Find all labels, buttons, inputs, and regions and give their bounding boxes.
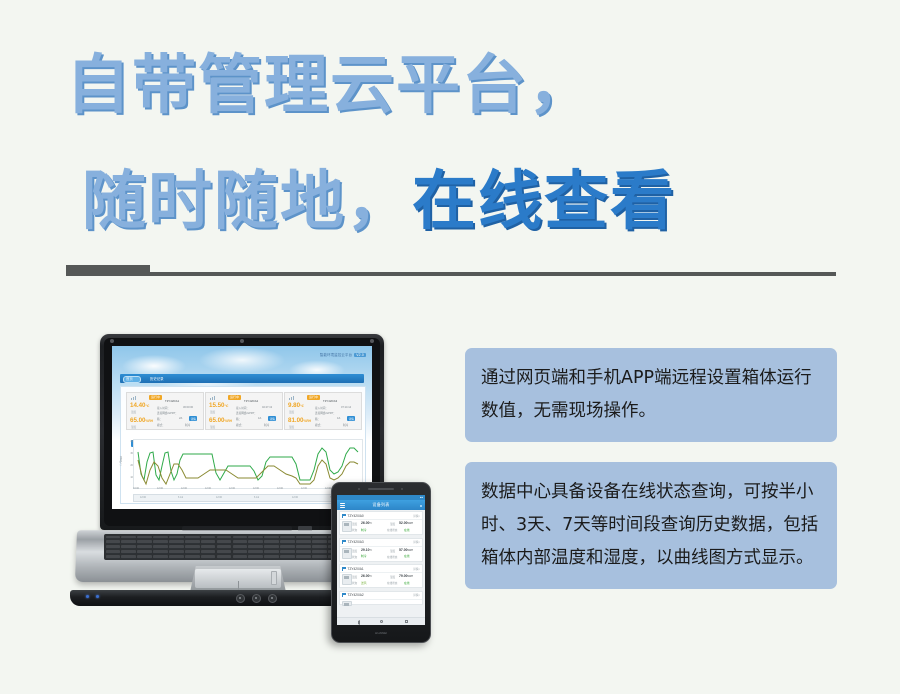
slider-tick: 12:00 bbox=[140, 496, 146, 499]
device-row-value-3: 制冷 bbox=[185, 423, 190, 427]
chart-plot-area bbox=[134, 440, 362, 488]
chart-y-axis-label: 温度(℃) bbox=[118, 456, 122, 465]
overflow-menu-icon[interactable] bbox=[420, 505, 422, 507]
list-item-detail-link[interactable]: 详情> bbox=[413, 567, 420, 571]
device-row-label-3: 模式： bbox=[236, 423, 244, 427]
screen-navbar: 首页 历史记录 bbox=[120, 374, 364, 383]
device-humidity-label: 湿度 bbox=[210, 425, 215, 429]
feature-card-data-center: 数据中心具备设备在线状态查询，可按半小时、3天、7天等时间段查询历史数据，包括箱… bbox=[465, 462, 837, 589]
device-card[interactable]: 运行中 9.80℃ 温度 81.00%RH 湿度 TZY420/A3 接入时间：… bbox=[284, 392, 362, 430]
feature-card-1-text: 通过网页端和手机APP端远程设置箱体运行数值，无需现场操作。 bbox=[481, 368, 812, 421]
trackpad-button-divider bbox=[238, 581, 239, 590]
device-status-badge: 运行中 bbox=[228, 395, 241, 400]
device-detail-button[interactable]: 详情 bbox=[347, 416, 355, 421]
x-tick: 10:00 bbox=[133, 487, 139, 490]
device-humidity-value: 65.00%RH bbox=[130, 417, 153, 424]
section-divider bbox=[66, 265, 836, 277]
device-status-badge: 运行中 bbox=[307, 395, 320, 400]
device-row-value-2: 1/1 bbox=[337, 417, 341, 420]
device-humidity-label: 湿度 bbox=[131, 425, 136, 429]
device-temperature-label: 温度 bbox=[289, 410, 294, 414]
device-humidity-value: 65.00%RH bbox=[209, 417, 232, 424]
list-item[interactable]: TZY420/A0 详情> 温度 26.00℃ 湿度 52.00%RH 状态 制… bbox=[339, 511, 423, 535]
device-id-label: TZY420/A3 bbox=[323, 399, 337, 403]
temp-value: 26.00℃ bbox=[361, 574, 372, 578]
headline-line1-text: 自带管理云平台， bbox=[66, 40, 594, 132]
slider-tick: 6 Jul bbox=[254, 496, 259, 499]
device-temperature-label: 温度 bbox=[131, 410, 136, 414]
headline-line2-light-text: 随时随地， bbox=[82, 156, 412, 248]
laptop-trackpad[interactable] bbox=[190, 566, 286, 592]
device-row-value-3: 制冷 bbox=[343, 423, 348, 427]
phone-device-list[interactable]: TZY420/A0 详情> 温度 26.00℃ 湿度 52.00%RH 状态 制… bbox=[337, 511, 425, 618]
signal-bars-icon bbox=[289, 395, 296, 400]
humidity-value: 79.00%RH bbox=[399, 574, 413, 578]
webcam-icon bbox=[240, 339, 244, 343]
recents-icon[interactable] bbox=[405, 620, 408, 623]
list-item[interactable]: TZY420/A1 详情> 温度 26.00℃ 湿度 79.00%RH 状态 送… bbox=[339, 564, 423, 588]
device-row-label-0: 接入时间： bbox=[157, 406, 170, 410]
y-tick: 40 bbox=[130, 440, 133, 443]
device-flag-icon bbox=[342, 593, 346, 597]
chart-range-slider[interactable]: 12:00 6 Jul 12:00 6 Jul 12:00 7 Jul bbox=[133, 494, 363, 502]
list-item-detail-link[interactable]: 详情> bbox=[413, 540, 420, 544]
device-thumbnail-icon bbox=[342, 521, 352, 532]
device-row-label-3: 模式： bbox=[315, 423, 323, 427]
navbar-home-label: 首页 bbox=[126, 376, 133, 381]
power-led-icon bbox=[86, 595, 89, 598]
phone-app-title: 设备列表 bbox=[337, 502, 425, 508]
temp-value: 26.00℃ bbox=[361, 521, 372, 525]
x-tick: 12:00 bbox=[157, 487, 163, 490]
temp-value: 29.10℃ bbox=[361, 548, 372, 552]
device-humidity-value: 81.00%RH bbox=[288, 417, 311, 424]
device-flag-icon bbox=[342, 540, 346, 544]
device-thumbnail-icon bbox=[342, 548, 352, 559]
device-humidity-label: 湿度 bbox=[289, 425, 294, 429]
platform-logo-text: 智能环境监控云平台 bbox=[320, 353, 352, 357]
x-tick: 12:00 bbox=[205, 487, 211, 490]
device-row-label-2: 箱： bbox=[157, 417, 162, 421]
history-chart: 40 30 20 10 温度(℃) bbox=[133, 439, 363, 489]
device-id-label: TZY420/A2 bbox=[244, 399, 258, 403]
headline-block: 自带管理云平台， 自带管理云平台， 随时随地，在线查看 随时随地，在线查看 bbox=[0, 40, 900, 255]
device-temperature-value: 14.40℃ bbox=[130, 402, 149, 409]
device-row-label-1: 连接网络/GPRT： bbox=[157, 411, 178, 415]
y-tick: 20 bbox=[130, 464, 133, 467]
list-item-detail-link[interactable]: 详情> bbox=[413, 514, 420, 518]
signal-bars-icon bbox=[210, 395, 217, 400]
state-value: 送风 bbox=[361, 581, 367, 585]
device-detail-button[interactable]: 详情 bbox=[268, 416, 276, 421]
feature-card-remote-setting: 通过网页端和手机APP端远程设置箱体运行数值，无需现场操作。 bbox=[465, 348, 837, 442]
device-row-value-0: 07:14:14 bbox=[341, 406, 351, 409]
device-temperature-value: 9.80℃ bbox=[288, 402, 304, 409]
list-item-device-id: TZY420/A0 bbox=[348, 514, 364, 518]
fingerprint-reader-icon bbox=[271, 571, 277, 585]
device-row-value-3: 制冷 bbox=[264, 423, 269, 427]
x-tick: 12:00 bbox=[229, 487, 235, 490]
online-value: 在线 bbox=[404, 554, 410, 558]
device-row-label-3: 模式： bbox=[157, 423, 165, 427]
state-value: 制冷 bbox=[361, 554, 367, 558]
x-tick: 12:00 bbox=[277, 487, 283, 490]
device-row-label-0: 接入时间： bbox=[236, 406, 249, 410]
device-card[interactable]: 运行中 15.50℃ 温度 65.00%RH 湿度 TZY420/A2 接入时间… bbox=[205, 392, 283, 430]
home-icon[interactable] bbox=[380, 620, 383, 623]
state-value: 制冷 bbox=[361, 528, 367, 532]
state-label: 状态 bbox=[352, 581, 357, 585]
audio-port-icon bbox=[236, 594, 245, 603]
device-temperature-value: 15.50℃ bbox=[209, 402, 228, 409]
device-row-label-1: 连接网络/GPRT： bbox=[236, 411, 257, 415]
online-value: 在线 bbox=[404, 528, 410, 532]
online-label: 在线状态 bbox=[387, 581, 397, 585]
x-tick: 12:00 bbox=[301, 487, 307, 490]
lid-screw-right-icon bbox=[370, 339, 374, 343]
headline-line-1: 自带管理云平台， 自带管理云平台， bbox=[0, 40, 900, 132]
list-item-device-id: TZY420/A1 bbox=[348, 567, 364, 571]
humidity-value: 57.00%RH bbox=[399, 548, 413, 552]
humidity-label: 湿度 bbox=[390, 549, 395, 553]
platform-logo: 智能环境监控云平台V2.0 bbox=[320, 352, 366, 357]
divider-thick-segment bbox=[66, 265, 150, 276]
temp-label: 温度 bbox=[352, 549, 357, 553]
activity-led-icon bbox=[96, 595, 99, 598]
device-row-value-0: 30:00:00 bbox=[183, 406, 193, 409]
phone-navigation-bar bbox=[337, 617, 425, 625]
feature-card-2-text: 数据中心具备设备在线状态查询，可按半小时、3天、7天等时间段查询历史数据，包括箱… bbox=[481, 482, 818, 568]
headline-line2-dark-text: 在线查看 bbox=[412, 156, 676, 248]
online-label: 在线状态 bbox=[387, 528, 397, 532]
state-label: 状态 bbox=[352, 528, 357, 532]
x-tick: 12:00 bbox=[181, 487, 187, 490]
list-item-device-id: TZY420/A3 bbox=[348, 540, 364, 544]
front-camera-icon bbox=[358, 488, 360, 490]
mic-port-icon bbox=[252, 594, 261, 603]
list-item[interactable]: TZY420/A3 详情> 温度 29.10℃ 湿度 57.00%RH 状态 制… bbox=[339, 538, 423, 562]
device-row-value-2: 1/1 bbox=[258, 417, 262, 420]
x-tick: 12:00 bbox=[253, 487, 259, 490]
device-row-label-2: 箱： bbox=[315, 417, 320, 421]
phone-brand-label: HUAWEI bbox=[337, 628, 425, 639]
y-tick: 10 bbox=[130, 476, 133, 479]
device-temperature-label: 温度 bbox=[210, 410, 215, 414]
proximity-sensor-icon bbox=[401, 488, 403, 490]
device-thumbnail-icon bbox=[342, 574, 352, 585]
device-row-label-1: 连接网络/GPRT： bbox=[315, 411, 336, 415]
device-detail-button[interactable]: 详情 bbox=[189, 416, 197, 421]
slider-tick: 6 Jul bbox=[178, 496, 183, 499]
list-item-device-id: TZY420/A2 bbox=[348, 593, 364, 597]
device-card[interactable]: 运行中 14.40℃ 温度 65.00%RH 湿度 TZY420/A1 接入时间… bbox=[126, 392, 204, 430]
humidity-label: 湿度 bbox=[390, 522, 395, 526]
divider-thin-segment bbox=[150, 272, 836, 276]
device-row-value-2: 2/1 bbox=[179, 417, 183, 420]
y-tick: 30 bbox=[130, 452, 133, 455]
headphone-port-icon bbox=[268, 594, 277, 603]
list-item-detail-link[interactable]: 详情> bbox=[413, 593, 420, 597]
phone-app-bar: 设备列表 bbox=[337, 500, 425, 510]
dashboard-panel: 运行中 14.40℃ 温度 65.00%RH 湿度 TZY420/A1 接入时间… bbox=[120, 386, 366, 504]
slider-tick: 12:00 bbox=[292, 496, 298, 499]
slider-tick: 12:00 bbox=[216, 496, 222, 499]
poster-stage: 自带管理云平台， 自带管理云平台， 随时随地，在线查看 随时随地，在线查看 通过… bbox=[0, 0, 900, 694]
lid-screw-left-icon bbox=[110, 339, 114, 343]
status-bar-indicators: ●● bbox=[420, 496, 423, 499]
laptop-keyboard[interactable] bbox=[104, 534, 344, 560]
humidity-label: 湿度 bbox=[390, 575, 395, 579]
phone-earpiece bbox=[368, 488, 394, 490]
phone-screen: ●● 设备列表 TZY420/A0 详情> 温度 26.00℃ bbox=[337, 495, 425, 625]
navbar-history-label[interactable]: 历史记录 bbox=[150, 376, 164, 381]
device-row-label-2: 箱： bbox=[236, 417, 241, 421]
device-row-value-0: 02:27:13 bbox=[262, 406, 272, 409]
temp-label: 温度 bbox=[352, 522, 357, 526]
online-label: 在线状态 bbox=[387, 555, 397, 559]
humidity-value: 52.00%RH bbox=[399, 521, 413, 525]
temp-label: 温度 bbox=[352, 575, 357, 579]
device-thumbnail-icon bbox=[342, 601, 352, 606]
device-status-badge: 运行中 bbox=[149, 395, 162, 400]
device-flag-icon bbox=[342, 514, 346, 518]
platform-version-tag: V2.0 bbox=[354, 353, 366, 357]
online-value: 在线 bbox=[404, 581, 410, 585]
smartphone-illustration: ●● 设备列表 TZY420/A0 详情> 温度 26.00℃ bbox=[331, 482, 431, 643]
device-flag-icon bbox=[342, 567, 346, 571]
device-id-label: TZY420/A1 bbox=[165, 399, 179, 403]
device-row-label-0: 接入时间： bbox=[315, 406, 328, 410]
back-icon[interactable] bbox=[355, 620, 360, 625]
headline-line-2: 随时随地，在线查看 随时随地，在线查看 bbox=[0, 156, 900, 248]
state-label: 状态 bbox=[352, 555, 357, 559]
signal-bars-icon bbox=[131, 395, 138, 400]
chart-y-axis: 40 30 20 10 bbox=[123, 440, 134, 488]
list-item[interactable]: TZY420/A2 详情> bbox=[339, 591, 423, 605]
